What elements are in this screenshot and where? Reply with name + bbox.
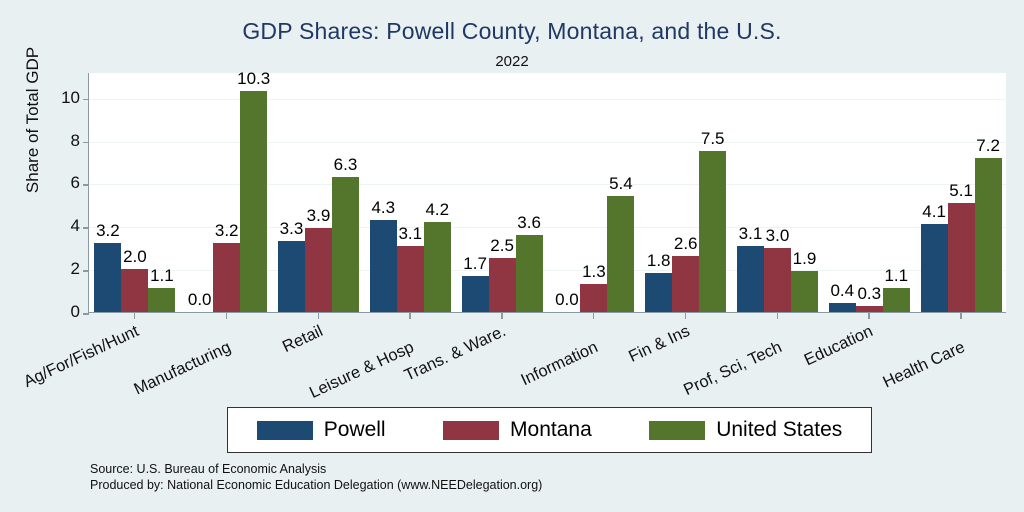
x-tick-mark [685, 313, 687, 319]
bar[interactable] [829, 303, 856, 312]
footer-notes: Source: U.S. Bureau of Economic Analysis… [90, 461, 542, 493]
bar[interactable] [737, 246, 764, 312]
bar-value-label: 4.2 [416, 200, 458, 220]
bar[interactable] [580, 284, 607, 312]
x-tick-mark [318, 313, 320, 319]
x-tick-mark [226, 313, 228, 319]
y-axis-title: Share of Total GDP [23, 0, 43, 245]
bar[interactable] [645, 273, 672, 312]
bar-value-label: 4.3 [362, 198, 404, 218]
y-tick-mark [83, 142, 89, 144]
bar[interactable] [699, 151, 726, 312]
bar[interactable] [856, 306, 883, 312]
y-tick-label: 8 [44, 131, 80, 151]
y-tick-mark [83, 270, 89, 272]
legend-swatch [649, 421, 705, 440]
bar-value-label: 7.5 [692, 129, 734, 149]
bar-group: 3.13.01.9 [737, 73, 818, 312]
y-tick-mark [83, 313, 89, 315]
bar-group: 3.22.01.1 [94, 73, 175, 312]
y-tick-label: 2 [44, 259, 80, 279]
plot-area: 3.22.01.10.03.210.33.33.96.34.33.14.21.7… [88, 73, 1006, 313]
bar-group: 4.33.14.2 [370, 73, 451, 312]
bar-value-label: 6.3 [325, 155, 367, 175]
bar-value-label: 3.0 [757, 226, 799, 246]
x-tick-mark [960, 313, 962, 319]
bar-value-label: 3.2 [87, 221, 129, 241]
bar-group: 4.15.17.2 [921, 73, 1002, 312]
x-tick-mark [868, 313, 870, 319]
chart-legend: PowellMontanaUnited States [227, 407, 872, 453]
bar[interactable] [397, 246, 424, 312]
y-tick-mark [83, 99, 89, 101]
bar[interactable] [213, 243, 240, 312]
footer-source: Source: U.S. Bureau of Economic Analysis [90, 461, 542, 477]
bar[interactable] [607, 196, 634, 312]
y-tick-label: 6 [44, 173, 80, 193]
x-tick-mark [777, 313, 779, 319]
bar-value-label: 1.9 [784, 249, 826, 269]
bar-group: 3.33.96.3 [278, 73, 359, 312]
y-tick-mark [83, 184, 89, 186]
x-tick-mark [501, 313, 503, 319]
bar[interactable] [332, 177, 359, 312]
bar-value-label: 1.1 [141, 266, 183, 286]
bar[interactable] [148, 288, 175, 312]
bar-group: 0.03.210.3 [186, 73, 267, 312]
legend-entry[interactable]: Montana [443, 418, 592, 442]
y-tick-label: 0 [44, 302, 80, 322]
x-tick-mark [409, 313, 411, 319]
legend-label: Montana [510, 418, 592, 442]
bar[interactable] [305, 228, 332, 312]
bar[interactable] [921, 224, 948, 312]
bar-group: 1.82.67.5 [645, 73, 726, 312]
bar[interactable] [462, 276, 489, 312]
legend-label: Powell [324, 418, 386, 442]
bar-group: 0.01.35.4 [553, 73, 634, 312]
legend-label: United States [716, 418, 842, 442]
bar-value-label: 1.1 [875, 266, 917, 286]
bar-value-label: 7.2 [967, 136, 1009, 156]
chart-subtitle-year: 2022 [0, 53, 1024, 70]
bar-value-label: 10.3 [233, 69, 275, 89]
bar-value-label: 2.0 [114, 247, 156, 267]
legend-swatch [443, 421, 499, 440]
bar[interactable] [424, 222, 451, 312]
y-tick-label: 4 [44, 216, 80, 236]
legend-entry[interactable]: United States [649, 418, 842, 442]
bar[interactable] [883, 288, 910, 312]
x-tick-mark [134, 313, 136, 319]
bar-value-label: 3.6 [508, 213, 550, 233]
chart-title: GDP Shares: Powell County, Montana, and … [0, 18, 1024, 45]
bar[interactable] [672, 256, 699, 312]
y-tick-label: 10 [44, 88, 80, 108]
bar[interactable] [975, 158, 1002, 312]
bar-group: 0.40.31.1 [829, 73, 910, 312]
bar[interactable] [791, 271, 818, 312]
legend-entry[interactable]: Powell [257, 418, 386, 442]
bar[interactable] [278, 241, 305, 312]
bar-group: 1.72.53.6 [462, 73, 543, 312]
x-tick-mark [593, 313, 595, 319]
legend-swatch [257, 421, 313, 440]
bar-value-label: 5.4 [600, 174, 642, 194]
footer-produced-by: Produced by: National Economic Education… [90, 477, 542, 493]
bar[interactable] [489, 258, 516, 312]
bar[interactable] [240, 91, 267, 312]
bar[interactable] [516, 235, 543, 312]
bar[interactable] [948, 203, 975, 312]
